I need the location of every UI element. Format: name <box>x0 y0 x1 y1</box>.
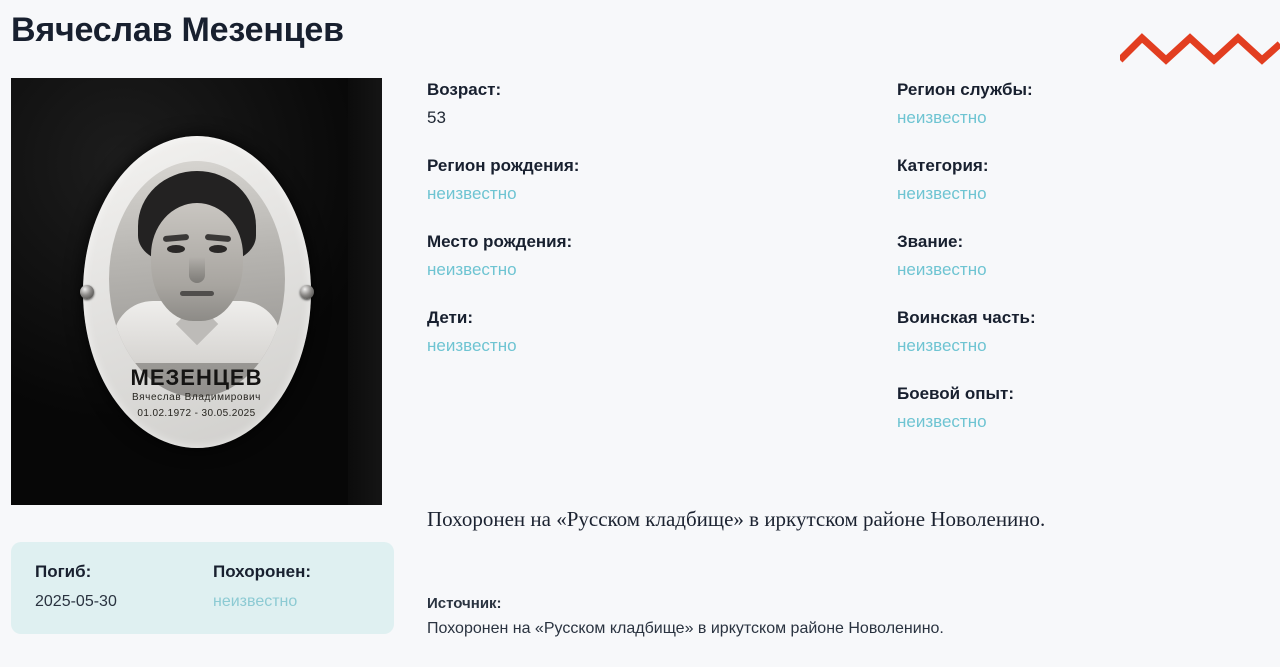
fact-age: Возраст: 53 <box>427 78 897 129</box>
description-text: Похоронен на «Русском кладбище» в иркутс… <box>427 505 1257 533</box>
status-label: Похоронен: <box>213 560 391 584</box>
fact-category: Категория: неизвестно <box>897 154 1187 205</box>
fact-value: неизвестно <box>897 411 1187 433</box>
fact-value: неизвестно <box>897 183 1187 205</box>
plaque-bolt-right <box>300 285 314 299</box>
source-text: Похоронен на «Русском кладбище» в иркутс… <box>427 618 1257 640</box>
fact-value: неизвестно <box>897 107 1187 129</box>
fact-military-unit: Воинская часть: неизвестно <box>897 306 1187 357</box>
fact-birth-place: Место рождения: неизвестно <box>427 230 897 281</box>
fact-service-region: Регион службы: неизвестно <box>897 78 1187 129</box>
fact-column-left: Возраст: 53 Регион рождения: неизвестно … <box>427 78 897 458</box>
status-label: Погиб: <box>35 560 213 584</box>
fact-rank: Звание: неизвестно <box>897 230 1187 281</box>
fact-label: Воинская часть: <box>897 306 1187 330</box>
fact-label: Категория: <box>897 154 1187 178</box>
memorial-page: Вячеслав Мезенцев МЕЗЕНЦЕВ Вячеслав Влад… <box>0 0 1280 667</box>
fact-column-right: Регион службы: неизвестно Категория: неи… <box>897 78 1187 458</box>
fact-value: неизвестно <box>427 259 897 281</box>
status-value: неизвестно <box>213 592 391 612</box>
portrait-mouth <box>180 291 214 296</box>
plaque-portrait-oval <box>109 161 285 397</box>
fact-combat-experience: Боевой опыт: неизвестно <box>897 382 1187 433</box>
plaque-bolt-left <box>80 285 94 299</box>
fact-label: Регион рождения: <box>427 154 897 178</box>
fact-value: неизвестно <box>427 335 897 357</box>
fact-children: Дети: неизвестно <box>427 306 897 357</box>
source-block: Источник: Похоронен на «Русском кладбище… <box>427 594 1257 640</box>
plaque-given-name: Вячеслав Владимирович <box>83 390 311 406</box>
portrait-eye-left <box>167 245 185 253</box>
fact-label: Регион службы: <box>897 78 1187 102</box>
source-label: Источник: <box>427 594 1257 614</box>
status-box: Погиб: 2025-05-30 Похоронен: неизвестно <box>11 542 394 634</box>
zigzag-accent-line <box>1120 24 1280 70</box>
fact-value: неизвестно <box>427 183 897 205</box>
fact-value: неизвестно <box>897 335 1187 357</box>
portrait-nose <box>189 257 205 283</box>
fact-label: Место рождения: <box>427 230 897 254</box>
fact-birth-region: Регион рождения: неизвестно <box>427 154 897 205</box>
fact-value: неизвестно <box>897 259 1187 281</box>
memorial-plaque: МЕЗЕНЦЕВ Вячеслав Владимирович 01.02.197… <box>83 136 311 448</box>
fact-label: Возраст: <box>427 78 897 102</box>
portrait-eye-right <box>209 245 227 253</box>
memorial-photo: МЕЗЕНЦЕВ Вячеслав Владимирович 01.02.197… <box>11 78 382 505</box>
fact-label: Дети: <box>427 306 897 330</box>
page-title: Вячеслав Мезенцев <box>11 8 344 52</box>
plaque-dates: 01.02.1972 - 30.05.2025 <box>83 406 311 422</box>
plaque-inscription: МЕЗЕНЦЕВ Вячеслав Владимирович 01.02.197… <box>83 366 311 422</box>
fact-value: 53 <box>427 107 897 129</box>
fact-label: Боевой опыт: <box>897 382 1187 406</box>
status-died: Погиб: 2025-05-30 <box>35 560 213 634</box>
fact-grid: Возраст: 53 Регион рождения: неизвестно … <box>427 78 1187 458</box>
plaque-surname: МЕЗЕНЦЕВ <box>83 366 311 390</box>
fact-label: Звание: <box>897 230 1187 254</box>
status-buried: Похоронен: неизвестно <box>213 560 391 634</box>
status-value: 2025-05-30 <box>35 592 213 612</box>
